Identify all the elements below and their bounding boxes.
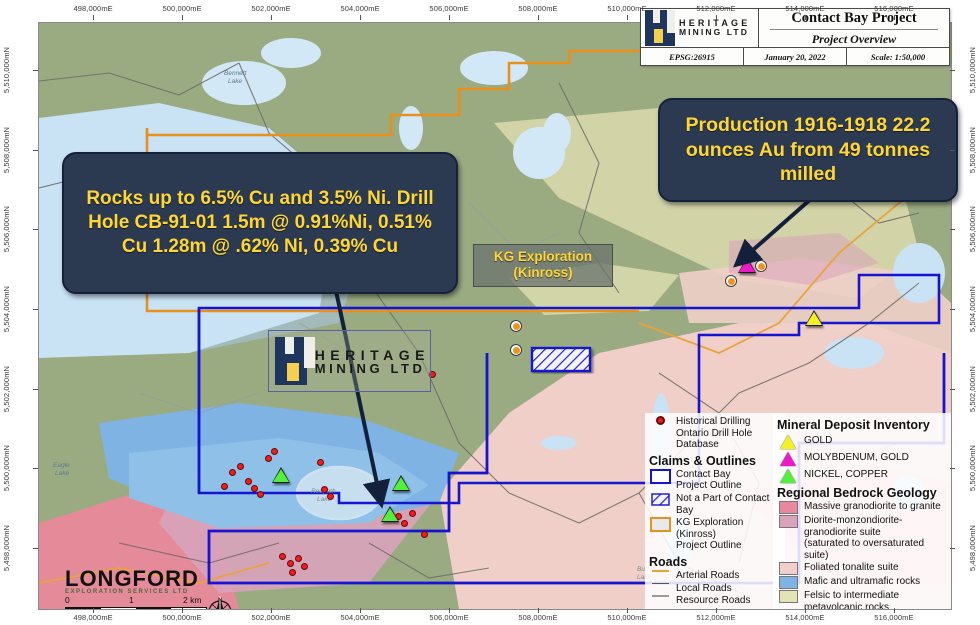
- legend-road-local: Local Roads: [649, 583, 781, 595]
- heritage-watermark-logo: HERITAGE MINING LTD: [268, 330, 431, 392]
- legend-geology-row: Foliated tonalite suite: [777, 562, 949, 575]
- north-arrow-icon: N: [205, 592, 235, 610]
- axis-tick: [950, 309, 955, 310]
- amis-feature-marker[interactable]: [755, 260, 767, 272]
- axis-bottom-label-2: 502,000mE: [245, 613, 297, 622]
- title-divider: [770, 29, 937, 30]
- axis-bottom-label-3: 504,000mE: [334, 613, 386, 622]
- drill-hole-dot[interactable]: [271, 448, 278, 455]
- axis-right-label-4: 5,502,000mN: [968, 366, 977, 412]
- legend-geo-2-line1: Foliated tonalite suite: [804, 562, 899, 574]
- axis-tick: [182, 15, 183, 20]
- epsg-cell: EPSG:26915: [641, 48, 743, 65]
- geology-swatch-2-icon: [777, 562, 799, 575]
- axis-tick: [716, 608, 717, 613]
- local-road-line-icon: [649, 583, 671, 585]
- axis-tick: [950, 70, 955, 71]
- axis-left-label-0: 5,510,000mN: [2, 47, 11, 93]
- axis-right-label-2: 5,506,000mN: [968, 206, 977, 252]
- legend-geology-heading: Regional Bedrock Geology: [777, 486, 949, 500]
- axis-tick: [271, 608, 272, 613]
- drill-hole-dot[interactable]: [237, 463, 244, 470]
- axis-tick: [894, 15, 895, 20]
- legend-claim-0-line2: Project Outline: [676, 480, 742, 492]
- geology-swatch-3-icon: [777, 576, 799, 589]
- axis-right-label-1: 5,508,000mN: [968, 126, 977, 172]
- drill-hole-dot[interactable]: [265, 455, 272, 462]
- drill-hole-dot[interactable]: [279, 553, 286, 560]
- svg-text:Lake: Lake: [55, 470, 69, 477]
- drill-hole-dot[interactable]: [401, 520, 408, 527]
- axis-tick: [950, 229, 955, 230]
- deposit-marker-nickel-copper[interactable]: [272, 467, 290, 483]
- hatched-swatch-icon: [649, 493, 671, 506]
- legend-roads-heading: Roads: [649, 555, 781, 569]
- axis-tick: [182, 608, 183, 613]
- axis-tick: [950, 389, 955, 390]
- orange-outline-swatch-icon: [649, 517, 671, 532]
- drill-hole-dot[interactable]: [229, 469, 236, 476]
- legend-road-0-label: Arterial Roads: [676, 570, 739, 582]
- watermark-line1: HERITAGE: [315, 348, 430, 362]
- map-figure: Bennett Lake Redpath Lake Burr Lake Eagl…: [0, 0, 980, 625]
- callout-production-text: Production 1916-1918 22.2 ounces Au from…: [674, 113, 942, 188]
- legend-claim-2-line1: KG Exploration (Kinross): [676, 517, 781, 540]
- legend-right-column: Mineral Deposit Inventory GOLD MOLYBDENU…: [773, 413, 952, 610]
- callout-assay: Rocks up to 6.5% Cu and 3.5% Ni. Drill H…: [62, 152, 458, 294]
- axis-tick: [93, 15, 94, 20]
- kg-exploration-label: KG Exploration (Kinross): [473, 244, 613, 287]
- axis-left-label-5: 5,500,000mN: [2, 445, 11, 491]
- legend-geo-3-line1: Mafic and ultramafic rocks: [804, 576, 920, 588]
- axis-bottom-label-1: 500,000mE: [156, 613, 208, 622]
- legend-geology-row: Felsic to intermediate metavolcanic rock…: [777, 590, 949, 610]
- axis-top-label-1: 500,000mE: [156, 4, 208, 13]
- axis-top-label-4: 506,000mE: [423, 4, 475, 13]
- axis-tick: [805, 608, 806, 613]
- axis-tick: [627, 608, 628, 613]
- axis-top-label-7: 512,000mE: [690, 4, 742, 13]
- scale-tick-0: 0: [65, 595, 70, 605]
- legend-claim-not-a-part: Not a Part of Contact Bay: [649, 493, 781, 516]
- legend-mdi-0-label: GOLD: [804, 435, 832, 447]
- legend-geo-0-line1: Massive granodiorite to granite: [804, 501, 941, 513]
- legend-road-arterial: Arterial Roads: [649, 570, 781, 582]
- axis-bottom-label-5: 508,000mE: [512, 613, 564, 622]
- molybdenum-gold-triangle-icon: [777, 452, 799, 466]
- drill-hole-dot[interactable]: [295, 555, 302, 562]
- drill-hole-dot[interactable]: [251, 485, 258, 492]
- drill-hole-dot[interactable]: [321, 486, 328, 493]
- axis-tick: [271, 15, 272, 20]
- callout-production: Production 1916-1918 22.2 ounces Au from…: [658, 98, 958, 202]
- drill-hole-dot[interactable]: [301, 563, 308, 570]
- axis-tick: [360, 608, 361, 613]
- heritage-h-icon: [645, 10, 675, 46]
- legend-claim-contact-bay: Contact Bay Project Outline: [649, 469, 781, 492]
- deposit-marker-nickel-copper[interactable]: [392, 475, 410, 491]
- legend-mdi-1-label: MOLYBDENUM, GOLD: [804, 452, 909, 464]
- axis-tick: [627, 15, 628, 20]
- svg-text:N: N: [218, 598, 222, 604]
- axis-tick: [93, 608, 94, 613]
- scale-tick-1: 1: [129, 595, 134, 605]
- axis-left-label-1: 5,508,000mN: [2, 126, 11, 172]
- legend-geology-row: Massive granodiorite to granite: [777, 501, 949, 514]
- project-subtitle: Project Overview: [812, 32, 896, 47]
- geology-swatch-0-icon: [777, 501, 799, 514]
- drill-hole-dot[interactable]: [317, 459, 324, 466]
- legend-geo-1-line1: Diorite-monzondiorite-granodiorite suite: [804, 515, 949, 538]
- axis-right-label-3: 5,504,000mN: [968, 286, 977, 332]
- legend-left-column: Historical Drilling Ontario Drill Hole D…: [645, 413, 785, 610]
- legend-drilling-line2: Ontario Drill Hole Database: [676, 428, 781, 451]
- deposit-marker-gold[interactable]: [805, 310, 823, 326]
- kg-label-line1: KG Exploration: [484, 249, 602, 265]
- legend-mdi-2-label: NICKEL, COPPER: [804, 469, 888, 481]
- axis-top-label-0: 498,000mE: [67, 4, 119, 13]
- axis-left-label-3: 5,504,000mN: [2, 286, 11, 332]
- title-block-logo: HERITAGE MINING LTD: [641, 9, 759, 47]
- axis-tick: [950, 150, 955, 151]
- axis-top-label-8: 514,000mE: [779, 4, 831, 13]
- axis-tick: [894, 608, 895, 613]
- legend-drilling-line1: Historical Drilling: [676, 416, 781, 428]
- axis-tick: [716, 15, 717, 20]
- longford-branding: LONGFORD EXPLORATION SERVICES LTD 0 1 2 …: [65, 566, 243, 610]
- blue-outline-swatch-icon: [649, 469, 671, 484]
- drill-hole-dot[interactable]: [327, 493, 334, 500]
- historical-drilling-icon: [649, 416, 671, 425]
- axis-tick: [360, 15, 361, 20]
- legend-mdi-heading: Mineral Deposit Inventory: [777, 418, 949, 432]
- axis-tick: [33, 389, 38, 390]
- axis-tick: [950, 548, 955, 549]
- axis-top-label-2: 502,000mE: [245, 4, 297, 13]
- drill-hole-dot[interactable]: [421, 531, 428, 538]
- callout-assay-text: Rocks up to 6.5% Cu and 3.5% Ni. Drill H…: [78, 187, 442, 260]
- amis-feature-marker[interactable]: [510, 320, 522, 332]
- drill-hole-dot[interactable]: [287, 560, 294, 567]
- axis-tick: [449, 608, 450, 613]
- axis-top-label-9: 516,000mE: [868, 4, 920, 13]
- svg-text:Bennett: Bennett: [224, 70, 248, 77]
- legend-geo-1-line2: (saturated to oversaturated suite): [804, 538, 949, 561]
- heritage-h-icon: [275, 337, 307, 385]
- scale-cell: Scale: 1:50,000: [846, 48, 949, 65]
- nickel-copper-triangle-icon: [777, 469, 799, 483]
- axis-tick: [33, 548, 38, 549]
- amis-feature-marker[interactable]: [725, 275, 737, 287]
- axis-left-label-2: 5,506,000mN: [2, 206, 11, 252]
- deposit-marker-molybdenum-gold[interactable]: [738, 257, 756, 273]
- scale-bar-numbers: 0 1 2 km: [65, 595, 215, 605]
- drill-hole-dot[interactable]: [409, 510, 416, 517]
- kg-label-line2: (Kinross): [484, 265, 602, 281]
- axis-tick: [538, 15, 539, 20]
- axis-bottom-label-4: 506,000mE: [423, 613, 475, 622]
- axis-right-label-0: 5,510,000mN: [968, 47, 977, 93]
- axis-left-label-6: 5,498,000mN: [2, 525, 11, 571]
- legend-geo-4-line1: Felsic to intermediate metavolcanic rock…: [804, 590, 949, 610]
- scale-bar: [65, 607, 207, 610]
- axis-tick: [33, 229, 38, 230]
- legend-mdi-nickel-copper: NICKEL, COPPER: [777, 469, 949, 483]
- axis-right-label-6: 5,498,000mN: [968, 525, 977, 571]
- title-block: HERITAGE MINING LTD Contact Bay Project …: [640, 8, 950, 66]
- axis-tick: [805, 15, 806, 20]
- drill-hole-dot[interactable]: [245, 478, 252, 485]
- legend-claim-2-line2: Project Outline: [676, 540, 781, 552]
- axis-tick: [33, 70, 38, 71]
- drill-hole-dot[interactable]: [257, 491, 264, 498]
- axis-tick: [950, 468, 955, 469]
- svg-text:Lake: Lake: [228, 78, 242, 85]
- amis-feature-marker[interactable]: [510, 344, 522, 356]
- deposit-marker-nickel-copper[interactable]: [381, 506, 399, 522]
- legend-mdi-gold: GOLD: [777, 435, 949, 449]
- axis-tick: [538, 608, 539, 613]
- legend-mdi-molybdenum-gold: MOLYBDENUM, GOLD: [777, 452, 949, 466]
- axis-right-label-5: 5,500,000mN: [968, 445, 977, 491]
- drill-hole-dot[interactable]: [221, 483, 228, 490]
- axis-left-label-4: 5,502,000mN: [2, 366, 11, 412]
- axis-top-label-5: 508,000mE: [512, 4, 564, 13]
- axis-tick: [33, 468, 38, 469]
- date-cell: January 20, 2022: [743, 48, 846, 65]
- geology-swatch-1-icon: [777, 515, 799, 528]
- legend-road-resource: Resource Roads: [649, 595, 781, 607]
- legend-road-1-label: Local Roads: [676, 583, 732, 595]
- title-block-company-line2: MINING LTD: [679, 28, 750, 37]
- axis-tick: [33, 150, 38, 151]
- legend-drilling-row: Historical Drilling Ontario Drill Hole D…: [649, 416, 781, 451]
- watermark-line2: MINING LTD: [315, 362, 430, 375]
- legend-road-2-label: Resource Roads: [676, 595, 750, 607]
- legend-geology-row: Mafic and ultramafic rocks: [777, 576, 949, 589]
- axis-bottom-label-0: 498,000mE: [67, 613, 119, 622]
- axis-bottom-label-7: 512,000mE: [690, 613, 742, 622]
- axis-bottom-label-8: 514,000mE: [779, 613, 831, 622]
- geology-swatch-4-icon: [777, 590, 799, 603]
- legend-claim-0-line1: Contact Bay: [676, 469, 742, 481]
- axis-top-label-3: 504,000mE: [334, 4, 386, 13]
- scale-tick-2: 2 km: [183, 595, 201, 605]
- drill-hole-dot[interactable]: [289, 569, 296, 576]
- axis-top-label-6: 510,000mE: [601, 4, 653, 13]
- axis-tick: [449, 15, 450, 20]
- legend-claim-kg: KG Exploration (Kinross) Project Outline: [649, 517, 781, 552]
- legend-claims-heading: Claims & Outlines: [649, 454, 781, 468]
- legend-geology-row: Diorite-monzondiorite-granodiorite suite…: [777, 515, 949, 561]
- axis-bottom-label-9: 516,000mE: [868, 613, 920, 622]
- arterial-road-line-icon: [649, 570, 671, 572]
- resource-road-line-icon: [649, 595, 671, 597]
- axis-bottom-label-6: 510,000mE: [601, 613, 653, 622]
- gold-triangle-icon: [777, 435, 799, 449]
- legend-claim-1-line1: Not a Part of Contact Bay: [676, 493, 781, 516]
- svg-text:Eagle: Eagle: [53, 462, 70, 469]
- axis-tick: [33, 309, 38, 310]
